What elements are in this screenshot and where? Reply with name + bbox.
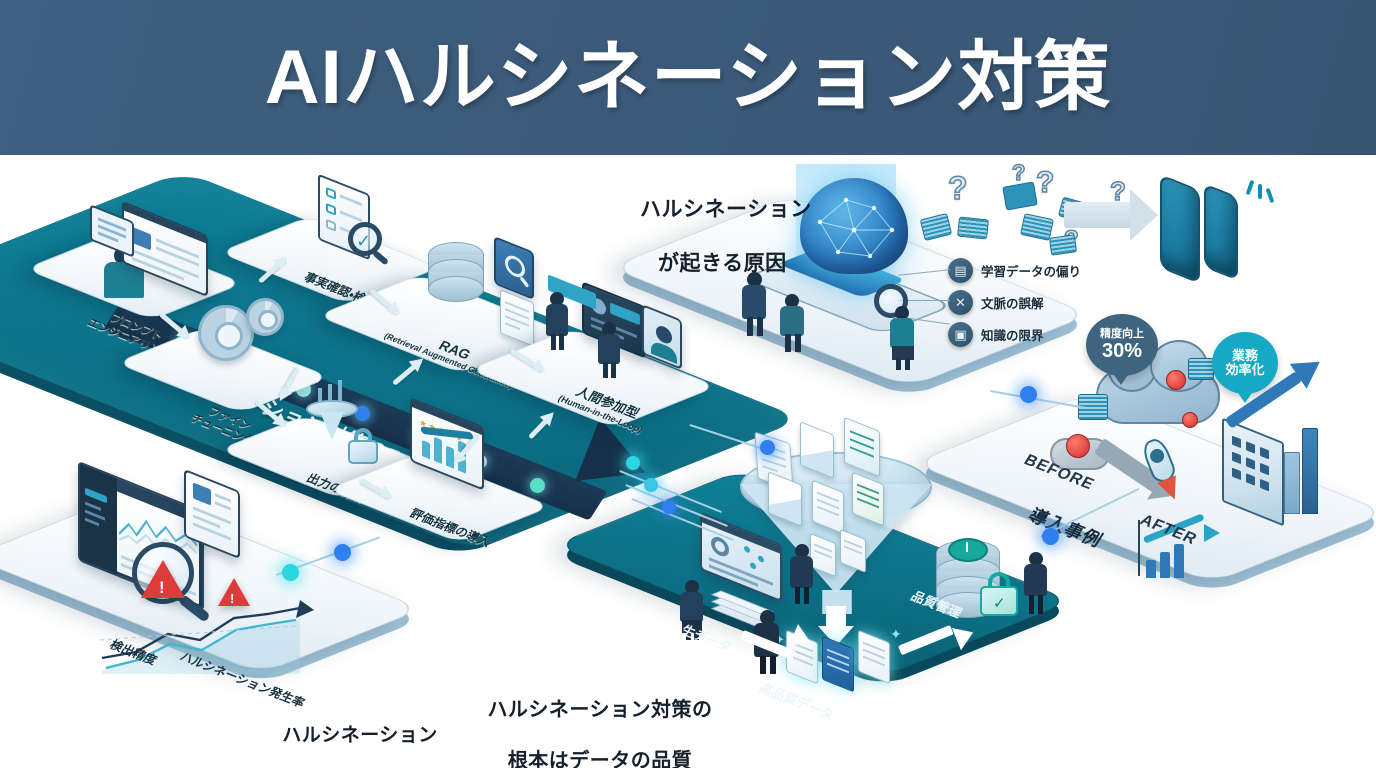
header-banner: AIハルシネーション対策 [0,0,1376,155]
crack-spark [1258,184,1262,199]
causes-person-1 [740,272,770,336]
cause-item-2[interactable]: ▣ 知識の限界 [948,322,1044,347]
risk-node [1166,370,1186,390]
cause-label: 知識の限界 [981,325,1044,344]
data-shard [1049,234,1077,255]
broken-output-icon [1160,174,1200,284]
badge-efficiency-line2: 効率化 [1225,363,1264,377]
data-shard [1002,181,1038,210]
dq-clock-hand [966,542,968,552]
broken-output-icon-2 [1204,183,1238,281]
page-title: AIハルシネーション対策 [265,40,1111,116]
dq-caption-line1: ハルシネーション対策の [487,699,712,721]
causes-title-line1: ハルシネーション [640,198,812,221]
badge-accuracy-line2: 30% [1102,340,1142,362]
lock-icon [346,428,380,468]
hitl-person-1 [544,292,572,350]
cause-item-0[interactable]: ▤ 学習データの偏り [948,258,1081,283]
book-limit-icon: ▣ [948,322,973,347]
cloud-shard [1188,358,1214,380]
data-skew-icon: ▤ [948,258,973,283]
connector-node [626,456,640,470]
cause-item-1[interactable]: ✕ 文脈の誤解 [948,290,1044,315]
data-shard [920,213,952,241]
dq-stage-output-label: 高品質データ [756,678,839,723]
crack-spark [1266,188,1275,203]
connector-node [334,544,351,561]
detection-chart [96,600,316,676]
causes-title: ハルシネーション が起きる原因 [640,170,860,278]
cause-label: 学習データの偏り [981,261,1081,280]
degradation-arrow [1064,202,1132,228]
funnel-output-arrow [826,606,846,628]
dq-person-1 [678,580,706,640]
data-shard [1020,213,1054,241]
causes-person-3 [888,306,918,368]
question-mark-icon: ? [1036,166,1054,200]
data-quality-caption: ハルシネーション対策の 根本はデータの品質 [450,672,750,768]
connector-node [1042,528,1059,545]
dq-lock-icon: ✓ [978,572,1020,622]
badge-accuracy: 精度向上 30% [1086,314,1158,376]
connector-node [644,478,658,492]
connector-node [760,440,775,455]
connector-node [1020,386,1037,403]
sparkle-icon: ✦ [890,626,902,643]
database-search-icon [428,242,484,306]
dq-clock-badge [948,538,988,562]
fact-check-magnifier-icon: ✓ [348,222,396,270]
dq-caption-line2: 根本はデータの品質 [508,750,693,768]
flow-node-7 [530,478,545,493]
shuffle-icon: ✕ [948,290,973,315]
crack-spark [1246,180,1255,195]
warning-bang: ! [159,578,165,598]
connector-node [662,500,676,514]
growth-bar-2 [1302,428,1318,514]
badge-efficiency-line1: 業務 [1232,349,1258,363]
dq-person-4 [1022,552,1050,614]
badge-efficiency: 業務 効率化 [1212,332,1278,394]
detection-caption-line1: ハルシネーション [282,725,438,746]
connector-node [282,564,299,581]
gear-small-icon [246,298,284,336]
data-shard [957,216,989,239]
before-alert-node [1066,434,1090,458]
growth-bar-1 [1284,452,1300,514]
risk-node [1182,412,1198,428]
detection-tool-caption: ハルシネーション 検出ツール [270,700,450,768]
dq-person-3 [788,544,816,604]
causes-person-2 [778,294,808,352]
badge-accuracy-line1: 精度向上 [1100,328,1144,340]
question-mark-icon: ? [948,170,968,207]
hitl-person-2 [596,322,624,378]
cause-label: 文脈の誤解 [981,293,1044,312]
